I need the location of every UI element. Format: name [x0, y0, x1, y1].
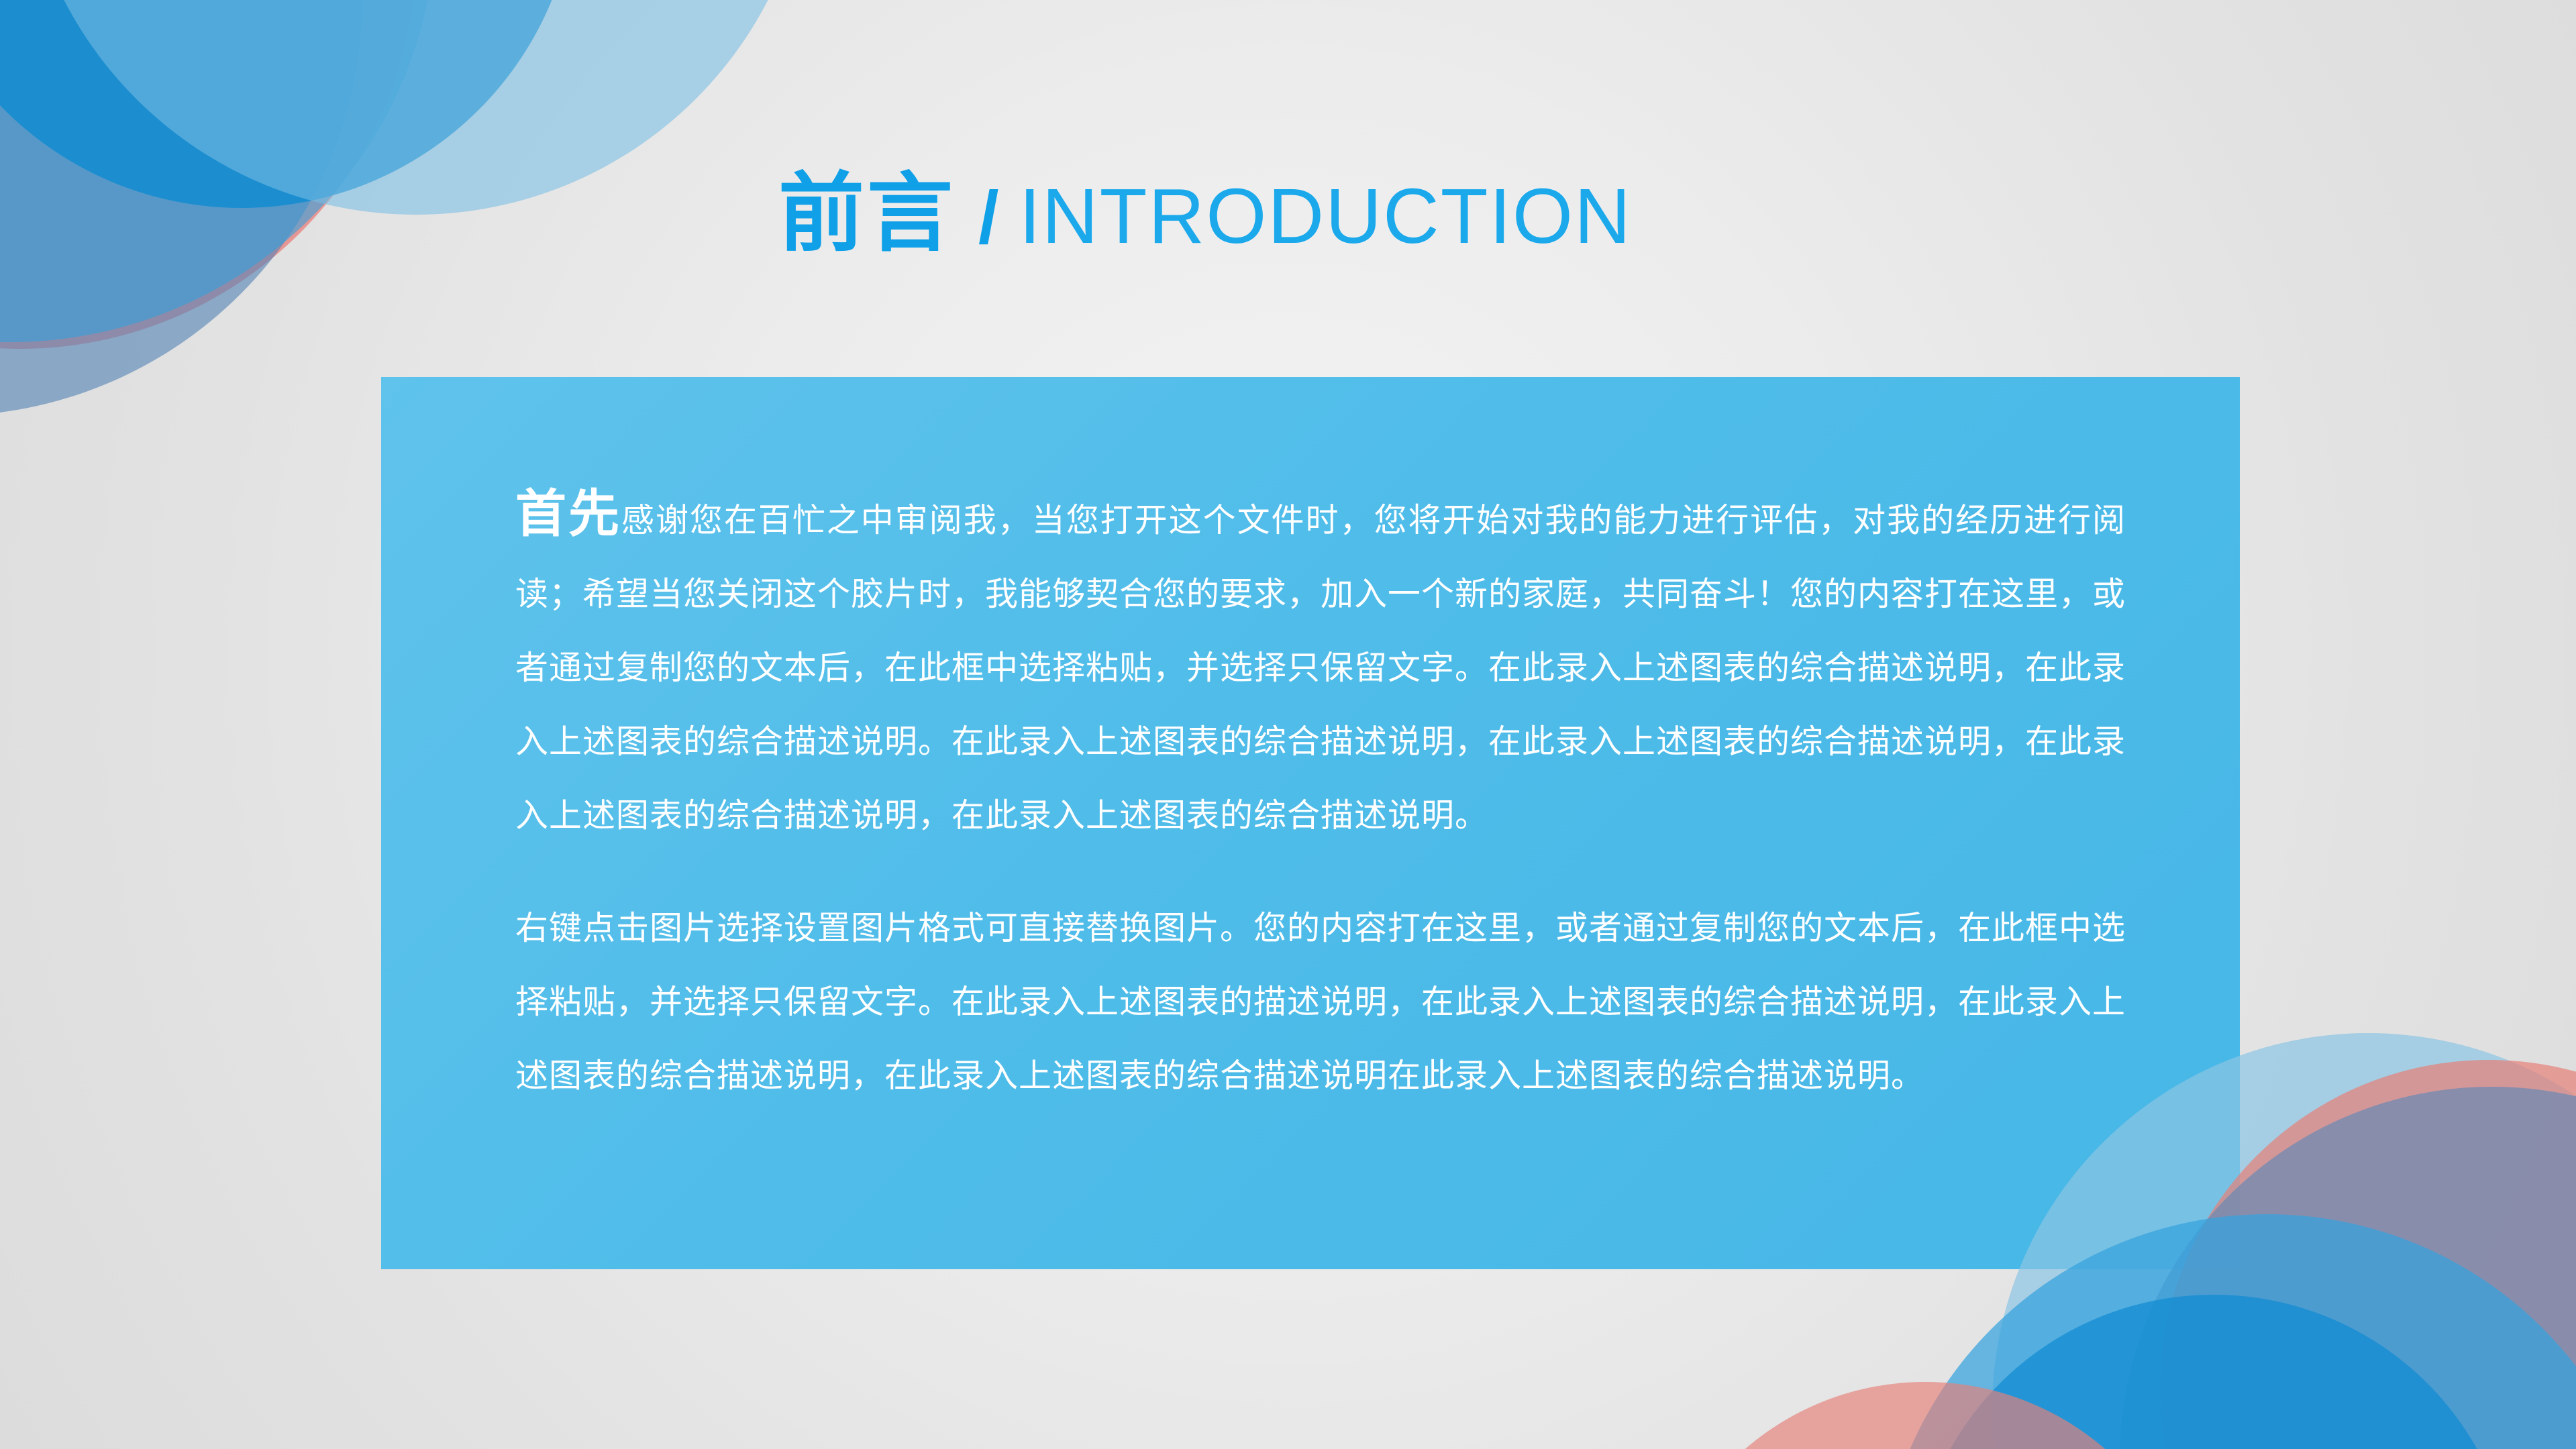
- paragraph-1: 首先感谢您在百忙之中审阅我，当您打开这个文件时，您将开始对我的能力进行评估，对我…: [515, 478, 2126, 853]
- paragraph-1-text: 感谢您在百忙之中审阅我，当您打开这个文件时，您将开始对我的能力进行评估，对我的经…: [515, 502, 2126, 834]
- content-panel: 首先感谢您在百忙之中审阅我，当您打开这个文件时，您将开始对我的能力进行评估，对我…: [381, 377, 2240, 1269]
- slide-title: 前言 / INTRODUCTION: [778, 171, 1632, 257]
- presentation-slide: 前言 / INTRODUCTION 首先感谢您在百忙之中审阅我，当您打开这个文件…: [0, 0, 2576, 1449]
- paragraph-2: 右键点击图片选择设置图片格式可直接替换图片。您的内容打在这里，或者通过复制您的文…: [515, 892, 2126, 1113]
- paragraph-2-text: 右键点击图片选择设置图片格式可直接替换图片。您的内容打在这里，或者通过复制您的文…: [515, 910, 2126, 1094]
- slide-title-chinese: 前言: [778, 171, 956, 257]
- slide-title-separator: /: [978, 181, 999, 255]
- slide-title-english: INTRODUCTION: [1019, 177, 1632, 255]
- content-panel-body: 首先感谢您在百忙之中审阅我，当您打开这个文件时，您将开始对我的能力进行评估，对我…: [515, 478, 2126, 1113]
- paragraph-1-lead: 首先: [515, 486, 621, 543]
